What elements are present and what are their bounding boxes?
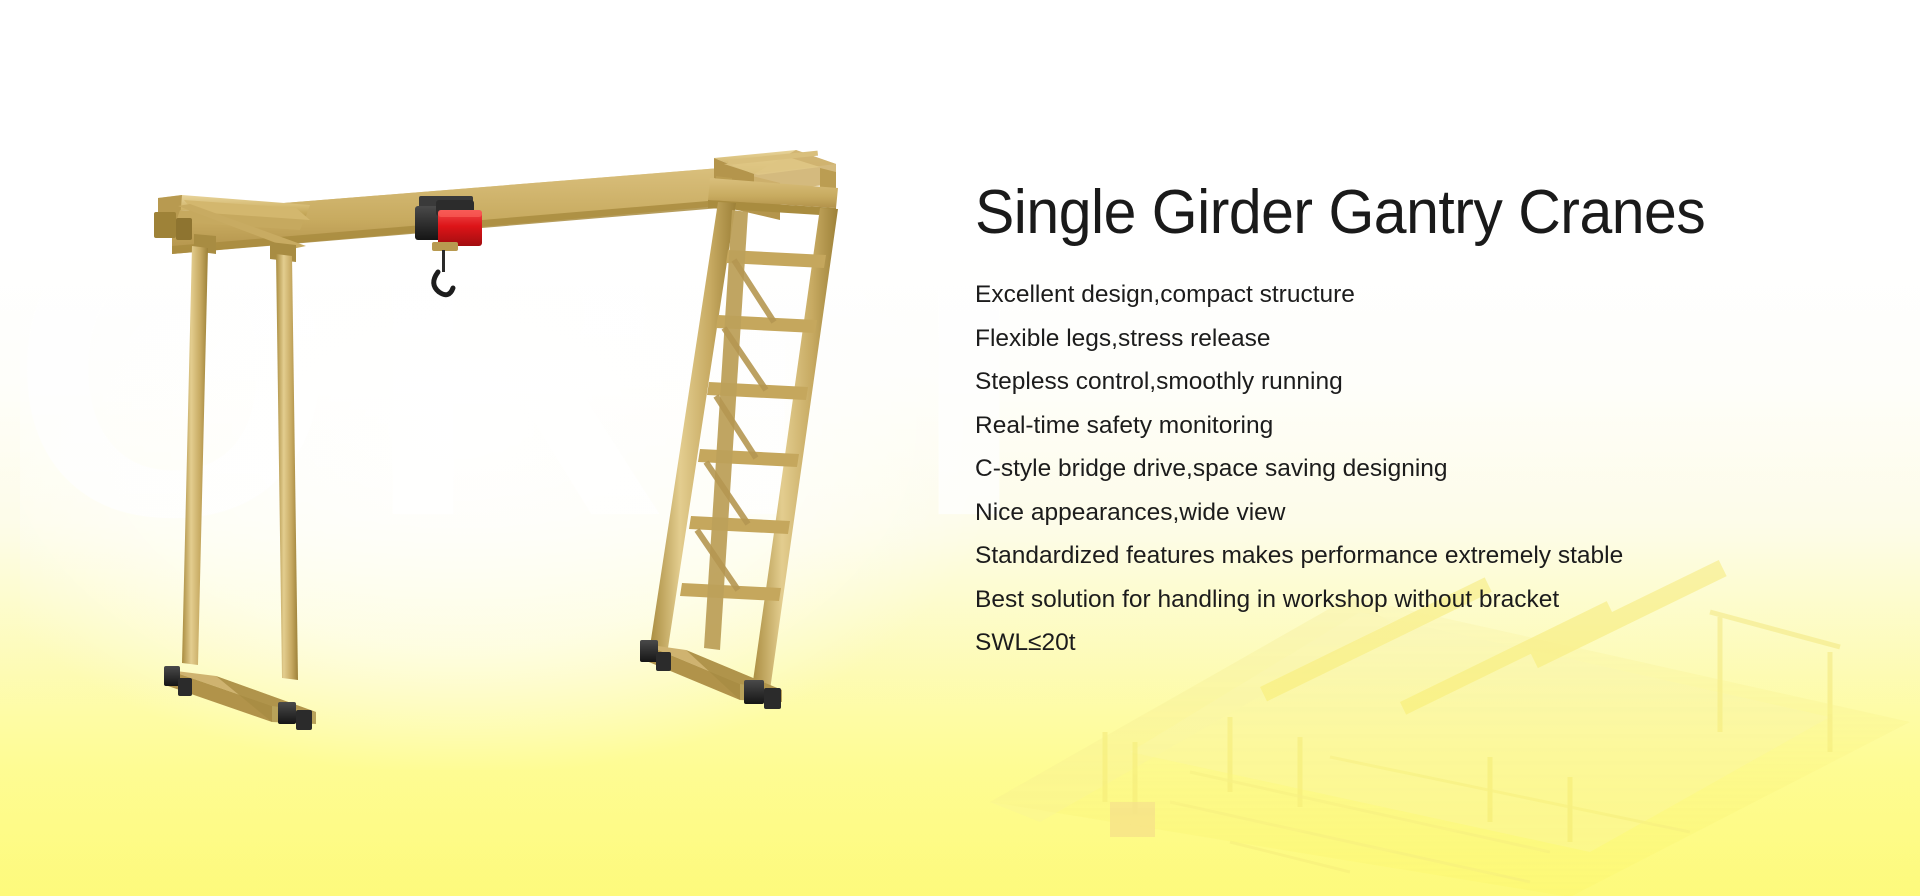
hero-banner: ORIT <box>0 0 1920 896</box>
feature-item: Best solution for handling in workshop w… <box>975 588 1855 613</box>
gantry-crane-illustration <box>120 150 920 730</box>
feature-item: SWL≤20t <box>975 631 1855 656</box>
feature-item: Stepless control,smoothly running <box>975 370 1855 395</box>
page-title: Single Girder Gantry Cranes <box>975 180 1811 245</box>
feature-item: Standardized features makes performance … <box>975 544 1855 569</box>
feature-item: Real-time safety monitoring <box>975 414 1855 439</box>
electric-hoist-trolley <box>415 196 482 295</box>
feature-item: C-style bridge drive,space saving design… <box>975 457 1855 482</box>
feature-item: Nice appearances,wide view <box>975 501 1855 526</box>
feature-list: Excellent design,compact structure Flexi… <box>975 283 1855 656</box>
feature-item: Flexible legs,stress release <box>975 327 1855 352</box>
accent-block <box>1110 802 1155 837</box>
hero-text-column: Single Girder Gantry Cranes Excellent de… <box>975 180 1855 656</box>
feature-item: Excellent design,compact structure <box>975 283 1855 308</box>
